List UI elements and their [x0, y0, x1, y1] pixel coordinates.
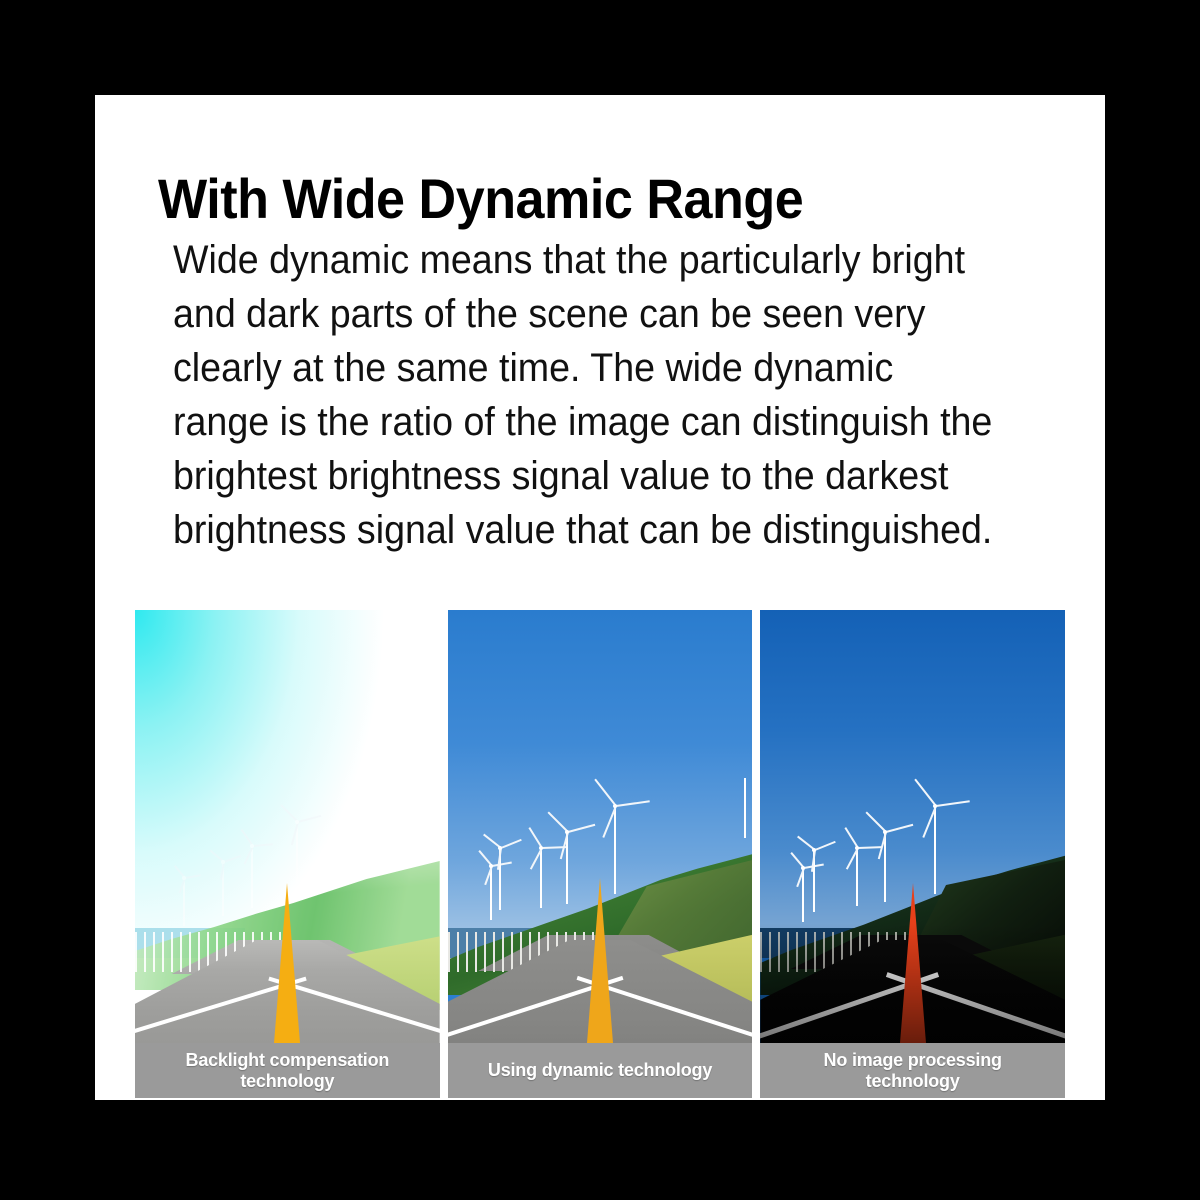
- wind-turbine-icon: [215, 862, 231, 916]
- comparison-panel-using-dynamic-technology: Using dynamic technology: [448, 610, 753, 1098]
- panel-caption: No image processing technology: [760, 1043, 1065, 1098]
- comparison-panel-no-image-processing: No image processing technology: [760, 610, 1065, 1098]
- comparison-gallery: Backlight compensation technology: [135, 610, 1065, 1100]
- description-line: range is the ratio of the image can dist…: [173, 395, 1000, 449]
- page-title: With Wide Dynamic Range: [158, 170, 995, 229]
- shadow-overlay: [760, 923, 1065, 1043]
- content-card: With Wide Dynamic Range Wide dynamic mea…: [95, 95, 1105, 1100]
- description-line: brightness signal value that can be dist…: [173, 503, 1000, 557]
- wind-turbine-icon: [804, 850, 824, 912]
- wind-turbine-icon: [846, 848, 868, 906]
- wind-turbine-icon: [554, 832, 580, 904]
- road-center-line: [587, 878, 613, 1043]
- wind-turbine-icon: [872, 832, 898, 902]
- wind-turbine-icon: [920, 806, 950, 894]
- description-paragraph: Wide dynamic means that the particularly…: [173, 233, 1000, 557]
- description-line: clearly at the same time. The wide dynam…: [173, 341, 1000, 395]
- light-pole-icon: [431, 782, 433, 830]
- wind-turbine-icon: [243, 846, 261, 908]
- description-line: and dark parts of the scene can be seen …: [173, 287, 1000, 341]
- page-root: With Wide Dynamic Range Wide dynamic mea…: [0, 0, 1200, 1200]
- description-line: brightest brightness signal value to the…: [173, 449, 1000, 503]
- panel-caption-line1: Using dynamic technology: [488, 1060, 712, 1081]
- panel-caption-line2: technology: [824, 1071, 1002, 1092]
- wind-turbine-icon: [490, 848, 510, 910]
- road-center-line: [274, 883, 300, 1043]
- panel-caption: Backlight compensation technology: [135, 1043, 440, 1098]
- panel-caption: Using dynamic technology: [448, 1043, 753, 1098]
- wind-turbine-icon: [177, 878, 191, 926]
- wind-turbine-icon: [530, 848, 552, 908]
- description-line: Wide dynamic means that the particularly…: [173, 233, 1000, 287]
- panel-caption-line1: Backlight compensation: [186, 1050, 390, 1071]
- panel-caption-line1: No image processing: [824, 1050, 1002, 1071]
- light-pole-icon: [744, 778, 746, 838]
- comparison-panel-backlight-compensation: Backlight compensation technology: [135, 610, 440, 1098]
- panel-caption-line2: technology: [186, 1071, 390, 1092]
